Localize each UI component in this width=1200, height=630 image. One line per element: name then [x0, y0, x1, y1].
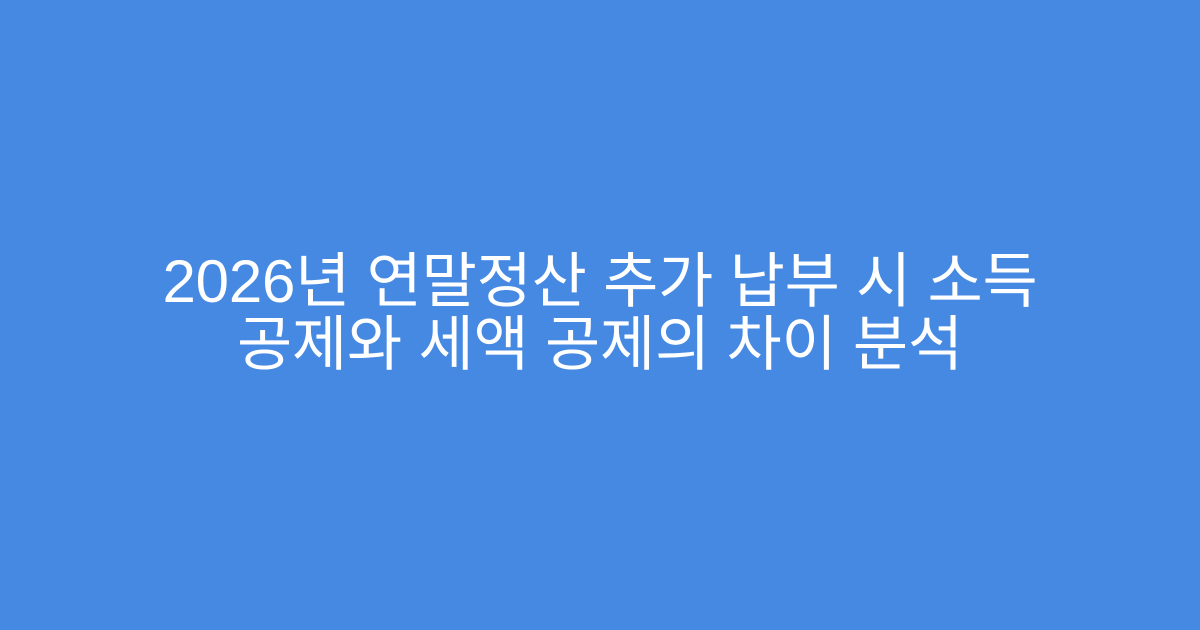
title-block: 2026년 연말정산 추가 납부 시 소득 공제와 세액 공제의 차이 분석	[85, 250, 1115, 376]
page-title: 2026년 연말정산 추가 납부 시 소득 공제와 세액 공제의 차이 분석	[85, 250, 1115, 376]
og-title-card: 2026년 연말정산 추가 납부 시 소득 공제와 세액 공제의 차이 분석	[0, 0, 1200, 630]
